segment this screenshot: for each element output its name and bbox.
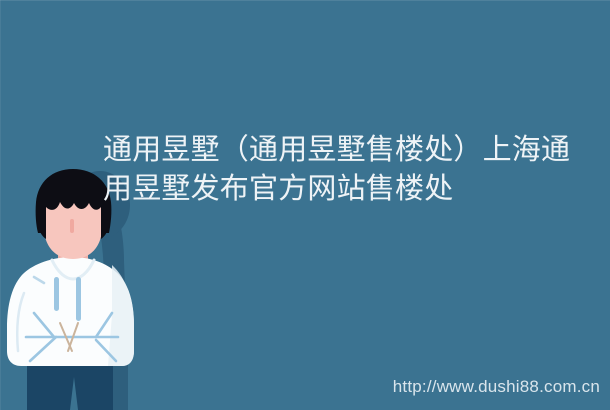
headline-text: 通用昱墅（通用昱墅售楼处）上海通用昱墅发布官方网站售楼处 <box>103 131 593 209</box>
source-url-watermark: http://www.dushi88.com.cn <box>393 377 600 397</box>
banner-canvas: 通用昱墅（通用昱墅售楼处）上海通用昱墅发布官方网站售楼处 http://www.… <box>0 0 610 410</box>
